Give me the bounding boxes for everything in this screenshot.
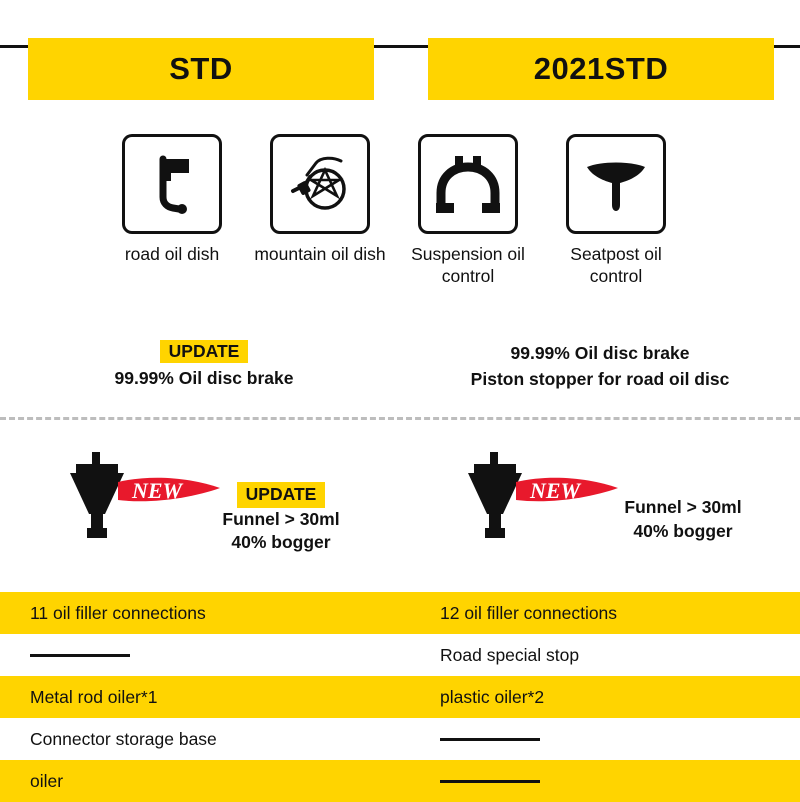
right-feature-line-1: 99.99% Oil disc brake (410, 340, 790, 366)
row-left-text: Metal rod oiler*1 (30, 676, 157, 718)
row-band (0, 760, 800, 802)
header-title-2021std: 2021STD (534, 51, 668, 87)
funnel-right-line-1: Funnel > 30ml (580, 496, 786, 520)
row-left-strike (30, 634, 130, 676)
icon-cell-road-oil-dish: road oil dish (122, 134, 222, 288)
table-row: Road special stop (0, 634, 800, 676)
table-row: 11 oil filler connections 12 oil filler … (0, 592, 800, 634)
row-left-text: 11 oil filler connections (30, 592, 206, 634)
row-right-text: Road special stop (440, 634, 579, 676)
funnel-badge-right: NEW (529, 478, 582, 503)
table-row: oiler (0, 760, 800, 802)
header-banner-2021std: 2021STD (428, 38, 774, 100)
left-feature-block: UPDATE 99.99% Oil disc brake (24, 340, 384, 389)
row-left-text: oiler (30, 760, 63, 802)
section-divider (0, 417, 800, 420)
funnel-badge-left: NEW (131, 478, 184, 503)
icon-cell-suspension-oil-control: Suspension oil control (418, 134, 518, 288)
row-right-text: plastic oiler*2 (440, 676, 544, 718)
right-feature-line-2: Piston stopper for road oil disc (410, 366, 790, 392)
funnel-text-right: Funnel > 30ml 40% bogger (580, 496, 786, 543)
suspension-oil-control-icon (418, 134, 518, 234)
funnel-update-tag-left: UPDATE (237, 482, 326, 508)
table-row: Connector storage base (0, 718, 800, 760)
funnel-left-line-2: 40% bogger (178, 531, 384, 555)
row-right-text: 12 oil filler connections (440, 592, 617, 634)
mountain-oil-dish-icon (270, 134, 370, 234)
comparison-sheet: STD 2021STD road oil dish (0, 0, 800, 800)
header-banner-std: STD (28, 38, 374, 100)
funnel-right-line-2: 40% bogger (580, 520, 786, 544)
header-rule-middle (372, 45, 430, 48)
right-feature-block: 99.99% Oil disc brake Piston stopper for… (410, 340, 790, 393)
funnel-text-left: UPDATE Funnel > 30ml 40% bogger (178, 482, 384, 555)
seatpost-oil-control-icon (566, 134, 666, 234)
header-title-std: STD (169, 51, 233, 87)
funnel-section: NEW UPDATE Funnel > 30ml 40% bogger NEW … (0, 452, 800, 572)
icon-cell-seatpost-oil-control: Seatpost oil control (566, 134, 666, 288)
left-update-tag: UPDATE (160, 340, 249, 363)
icon-label-seatpost-oil-control: Seatpost oil control (549, 244, 683, 288)
table-row: Metal rod oiler*1 plastic oiler*2 (0, 676, 800, 718)
funnel-left-line-1: Funnel > 30ml (178, 508, 384, 532)
left-feature-line-1: 99.99% Oil disc brake (24, 368, 384, 389)
road-oil-dish-icon (122, 134, 222, 234)
spec-table: 11 oil filler connections 12 oil filler … (0, 592, 800, 802)
header-rule-right (772, 45, 800, 48)
icon-row: road oil dish mountain oil dish (0, 134, 800, 288)
row-right-strike (440, 718, 540, 760)
icon-label-road-oil-dish: road oil dish (105, 244, 239, 266)
icon-label-mountain-oil-dish: mountain oil dish (253, 244, 387, 266)
header-rule-left (0, 45, 30, 48)
row-left-text: Connector storage base (30, 718, 217, 760)
icon-label-suspension-oil-control: Suspension oil control (401, 244, 535, 288)
row-right-strike (440, 760, 540, 802)
icon-cell-mountain-oil-dish: mountain oil dish (270, 134, 370, 288)
